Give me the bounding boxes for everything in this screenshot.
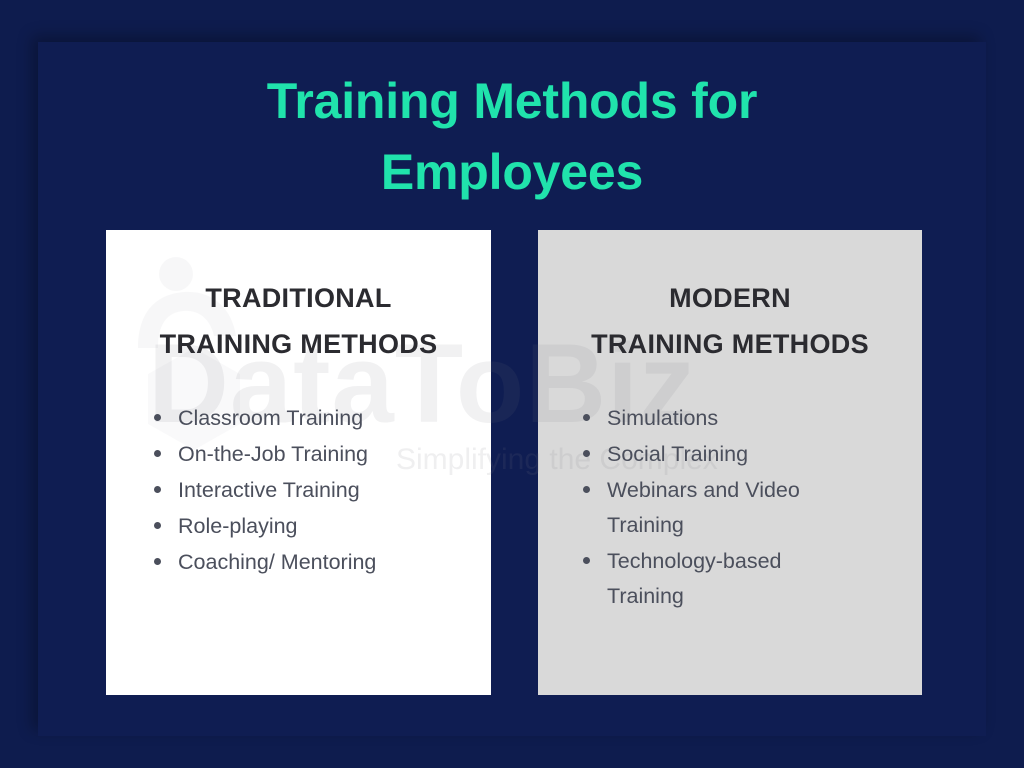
card-modern-list: Simulations Social Training Webinars and… [538,401,922,614]
card-traditional-list: Classroom Training On-the-Job Training I… [106,401,491,580]
list-item-label: Classroom Training [178,406,363,430]
bullet-icon [583,557,590,564]
card-traditional-heading: TRADITIONAL TRAINING METHODS [106,230,491,368]
list-item-label: Social Training [607,442,748,466]
card-traditional-heading-line-2: TRAINING METHODS [106,321,491,367]
list-item: On-the-Job Training [154,437,491,472]
card-modern-body: MODERN TRAINING METHODS Simulations Soci… [538,230,922,695]
card-modern-heading-line-2: TRAINING METHODS [538,321,922,367]
list-item-label: Simulations [607,406,718,430]
bullet-icon [583,486,590,493]
list-item: Webinars and Video Training [583,473,922,543]
list-item-label: Technology-based Training [607,549,782,608]
card-traditional-body: TRADITIONAL TRAINING METHODS Classroom T… [106,230,491,695]
bullet-icon [154,486,161,493]
bullet-icon [154,558,161,565]
list-item-label: Role-playing [178,514,298,538]
list-item-label: Coaching/ Mentoring [178,550,376,574]
card-modern-heading: MODERN TRAINING METHODS [538,230,922,368]
list-item: Classroom Training [154,401,491,436]
list-item-label: On-the-Job Training [178,442,368,466]
page-title: Training Methods for Employees [0,66,1024,208]
bullet-icon [154,450,161,457]
list-item: Interactive Training [154,473,491,508]
list-item-label: Webinars and Video Training [607,478,800,537]
page-title-line-1: Training Methods for [0,66,1024,137]
slide-canvas: Training Methods for Employees DataToBiz… [0,0,1024,768]
list-item: Simulations [583,401,922,436]
list-item-label: Interactive Training [178,478,360,502]
bullet-icon [154,522,161,529]
list-item: Coaching/ Mentoring [154,545,491,580]
list-item: Social Training [583,437,922,472]
card-traditional-heading-line-1: TRADITIONAL [106,275,491,321]
page-title-line-2: Employees [0,137,1024,208]
bullet-icon [154,414,161,421]
card-modern-heading-line-1: MODERN [538,275,922,321]
list-item: Technology-based Training [583,544,922,614]
list-item: Role-playing [154,509,491,544]
bullet-icon [583,414,590,421]
bullet-icon [583,450,590,457]
